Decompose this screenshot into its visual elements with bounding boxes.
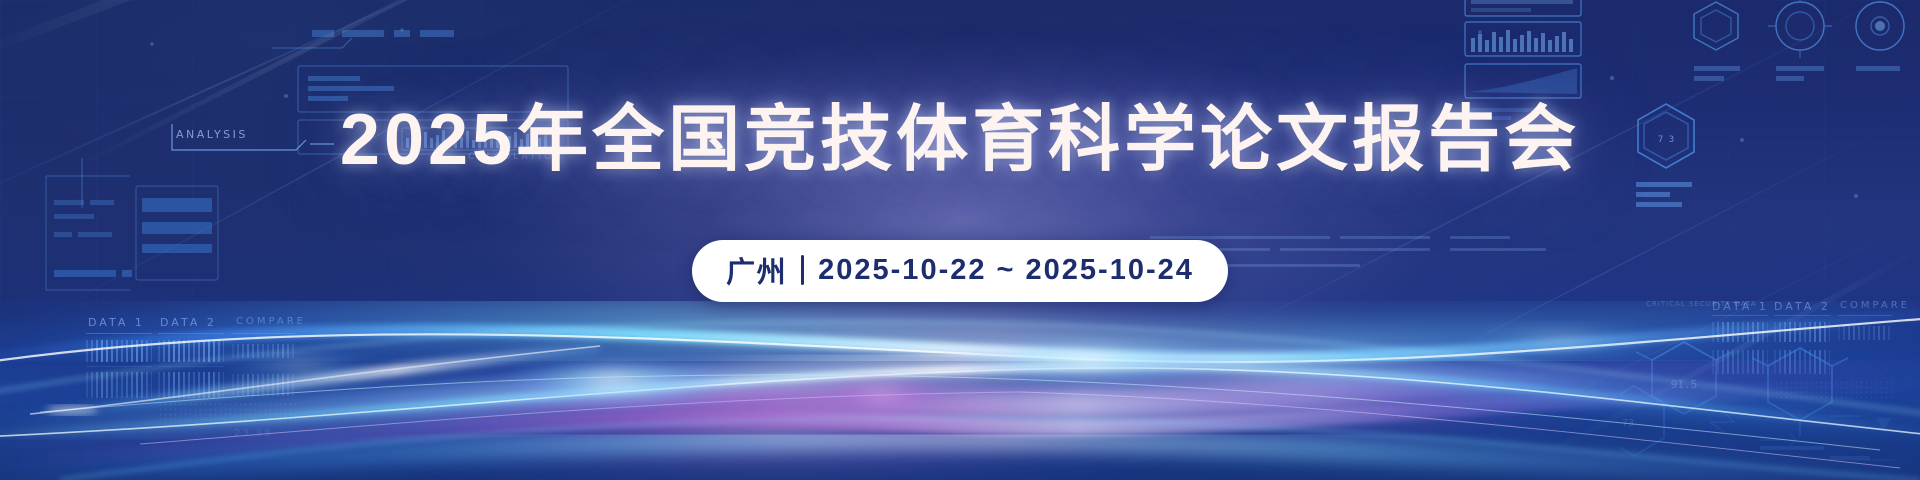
page-title: 2025年全国竞技体育科学论文报告会 (340, 104, 1580, 176)
event-location: 广州 (726, 249, 787, 291)
event-info-pill: 广州 2025-10-22 ~ 2025-10-24 (692, 240, 1228, 302)
event-date-range: 2025-10-22 ~ 2025-10-24 (818, 254, 1194, 287)
banner-content: 2025年全国竞技体育科学论文报告会 广州 2025-10-22 ~ 2025-… (0, 0, 1920, 480)
pill-separator (801, 255, 804, 285)
conference-banner: CALCULATION ANALYSIS DATA 1 DATA 2 (0, 0, 1920, 480)
